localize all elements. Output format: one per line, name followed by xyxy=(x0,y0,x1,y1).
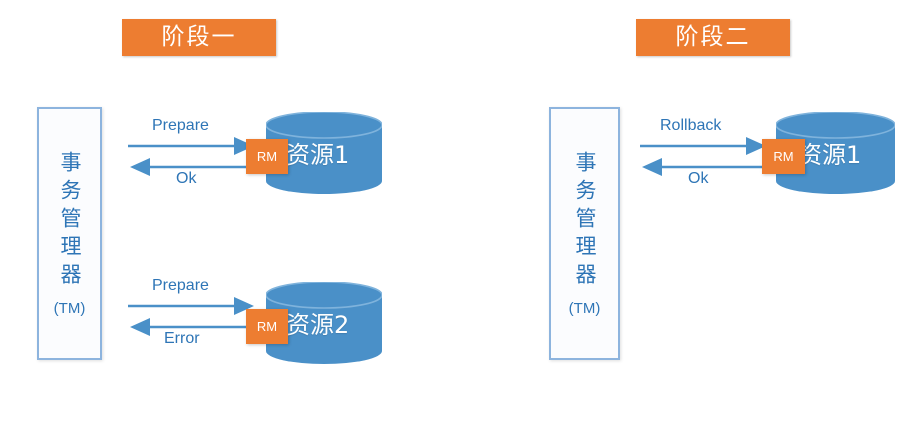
phase-two-banner: 阶段二 xyxy=(636,19,790,56)
flow-prepare-ok-arrows: Prepare Ok xyxy=(128,118,256,180)
flow-request-label-1: Prepare xyxy=(152,117,209,135)
resource-label-1: 资源1 xyxy=(286,135,349,170)
flow-request-label-3: Rollback xyxy=(660,117,721,135)
resource-manager-badge-1: RM xyxy=(246,139,288,174)
tm-sublabel-left: (TM) xyxy=(54,300,86,317)
flow-response-label-3: Ok xyxy=(688,170,708,188)
phase-one-banner: 阶段一 xyxy=(122,19,276,56)
transaction-manager-box-right: 事务管理器 (TM) xyxy=(549,107,620,360)
flow-rollback-ok-arrows: Rollback Ok xyxy=(640,118,768,180)
tm-label-right: 事务管理器 xyxy=(574,151,595,291)
flow-response-label-2: Error xyxy=(164,330,200,348)
flow-request-label-2: Prepare xyxy=(152,277,209,295)
tm-label-left: 事务管理器 xyxy=(59,151,80,291)
flow-prepare-error-arrows: Prepare Error xyxy=(128,278,256,340)
resource-label-2: 资源2 xyxy=(286,305,349,340)
transaction-manager-box-left: 事务管理器 (TM) xyxy=(37,107,102,360)
tm-sublabel-right: (TM) xyxy=(569,300,601,317)
resource-label-3: 资源1 xyxy=(798,135,861,170)
flow-response-label-1: Ok xyxy=(176,170,196,188)
diagram-canvas: 阶段一 事务管理器 (TM) Prepare Ok 资源1 RM Prepare xyxy=(0,0,921,433)
resource-manager-badge-3: RM xyxy=(762,139,805,174)
resource-manager-badge-2: RM xyxy=(246,309,288,344)
